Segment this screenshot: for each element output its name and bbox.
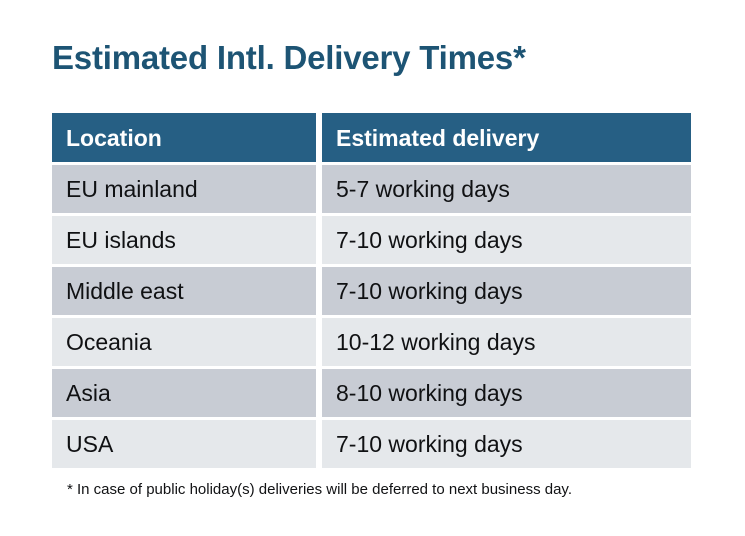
- cell-estimated-delivery: 7-10 working days: [322, 216, 691, 264]
- footnote: * In case of public holiday(s) deliverie…: [67, 480, 707, 500]
- table-header-row: Location Estimated delivery: [52, 113, 691, 162]
- cell-location: USA: [52, 420, 316, 468]
- delivery-times-table: Location Estimated delivery EU mainland …: [52, 113, 691, 468]
- delivery-times-page: Estimated Intl. Delivery Times* Location…: [0, 0, 745, 536]
- cell-location: EU islands: [52, 216, 316, 264]
- page-title: Estimated Intl. Delivery Times*: [52, 36, 712, 80]
- cell-location: Middle east: [52, 267, 316, 315]
- cell-estimated-delivery: 7-10 working days: [322, 420, 691, 468]
- cell-estimated-delivery: 8-10 working days: [322, 369, 691, 417]
- table-row: Middle east 7-10 working days: [52, 267, 691, 315]
- column-header-estimated-delivery: Estimated delivery: [322, 113, 691, 162]
- cell-location: EU mainland: [52, 165, 316, 213]
- table-row: Asia 8-10 working days: [52, 369, 691, 417]
- table-row: USA 7-10 working days: [52, 420, 691, 468]
- cell-location: Asia: [52, 369, 316, 417]
- cell-estimated-delivery: 10-12 working days: [322, 318, 691, 366]
- table-row: EU islands 7-10 working days: [52, 216, 691, 264]
- table-row: Oceania 10-12 working days: [52, 318, 691, 366]
- column-header-location: Location: [52, 113, 316, 162]
- cell-location: Oceania: [52, 318, 316, 366]
- table-row: EU mainland 5-7 working days: [52, 165, 691, 213]
- cell-estimated-delivery: 5-7 working days: [322, 165, 691, 213]
- cell-estimated-delivery: 7-10 working days: [322, 267, 691, 315]
